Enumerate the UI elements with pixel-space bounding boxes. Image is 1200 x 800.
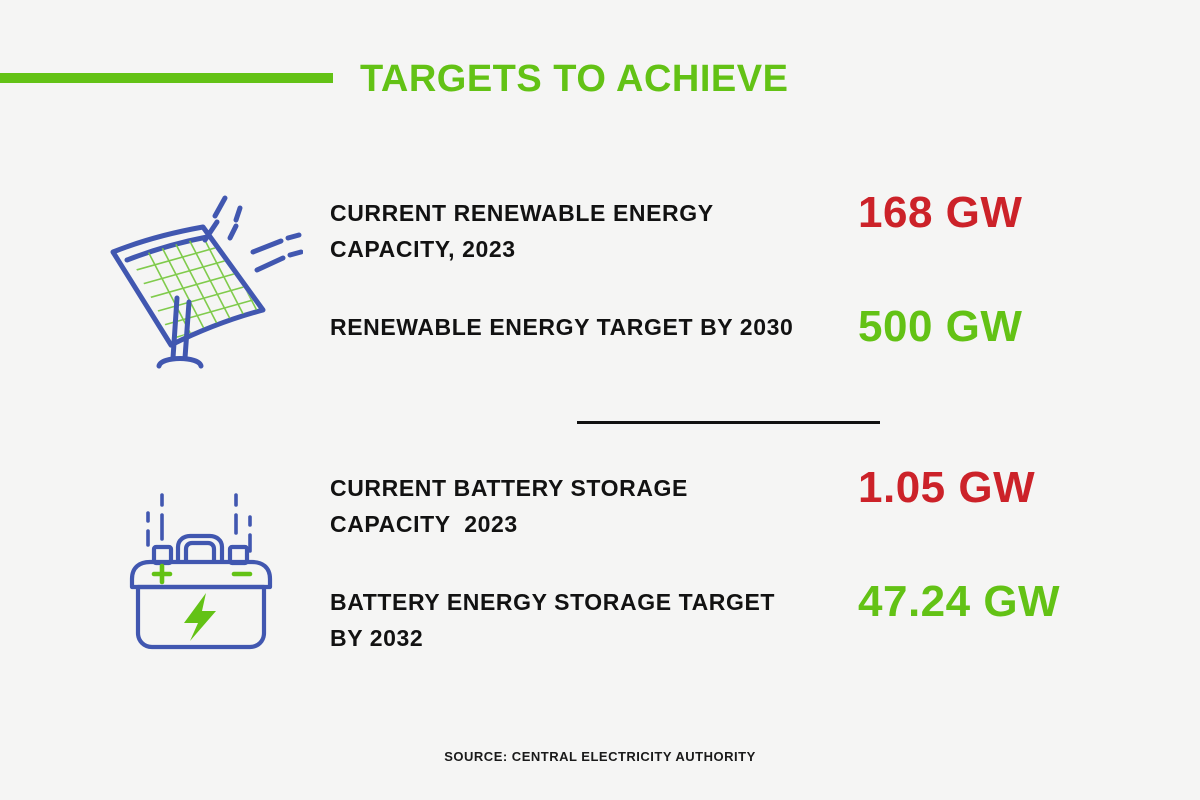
solar-panel-icon <box>95 185 310 385</box>
section-divider <box>577 421 880 424</box>
row-label: CURRENT BATTERY STORAGE CAPACITY 2023 <box>330 470 800 542</box>
battery-icon <box>95 478 310 663</box>
page-footer: SOURCE: CENTRAL ELECTRICITY AUTHORITY <box>0 748 1200 766</box>
source-note: SOURCE: CENTRAL ELECTRICITY AUTHORITY <box>444 749 756 764</box>
row-label: CURRENT RENEWABLE ENERGY CAPACITY, 2023 <box>330 195 800 267</box>
row-value: 500 GW <box>858 299 1022 355</box>
table-row: CURRENT RENEWABLE ENERGY CAPACITY, 2023 … <box>330 185 1130 285</box>
table-row: RENEWABLE ENERGY TARGET BY 2030 500 GW <box>330 293 1130 393</box>
renewable-rows: CURRENT RENEWABLE ENERGY CAPACITY, 2023 … <box>330 185 1130 401</box>
section-renewable-energy: CURRENT RENEWABLE ENERGY CAPACITY, 2023 … <box>0 185 1200 400</box>
row-label: RENEWABLE ENERGY TARGET BY 2030 <box>330 309 800 345</box>
row-value: 1.05 GW <box>858 460 1035 516</box>
page-header: TARGETS TO ACHIEVE <box>0 0 1200 140</box>
row-label: BATTERY ENERGY STORAGE TARGET BY 2032 <box>330 584 800 656</box>
row-value: 168 GW <box>858 185 1022 241</box>
page-title: TARGETS TO ACHIEVE <box>360 56 788 102</box>
section-battery-storage: CURRENT BATTERY STORAGE CAPACITY 2023 1.… <box>0 460 1200 675</box>
table-row: CURRENT BATTERY STORAGE CAPACITY 2023 1.… <box>330 460 1130 560</box>
header-accent-bar <box>0 73 333 83</box>
row-value: 47.24 GW <box>858 574 1060 630</box>
battery-rows: CURRENT BATTERY STORAGE CAPACITY 2023 1.… <box>330 460 1130 676</box>
table-row: BATTERY ENERGY STORAGE TARGET BY 2032 47… <box>330 568 1130 668</box>
